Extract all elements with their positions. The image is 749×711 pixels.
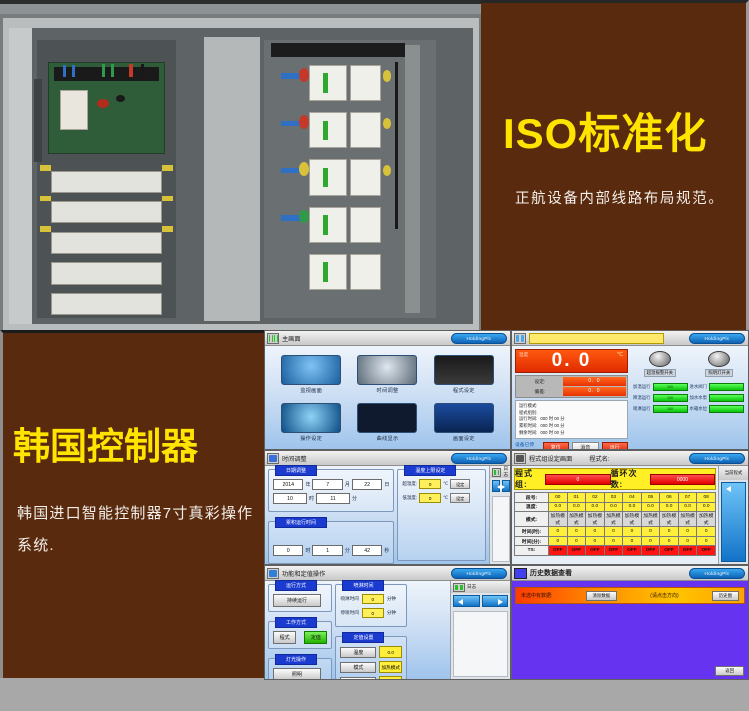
set-temp-value[interactable]: 0.0 (379, 646, 402, 658)
cell[interactable]: 0.0 (678, 502, 697, 512)
row-header: 时间(时): (515, 527, 549, 537)
cell[interactable]: 0.0 (697, 502, 716, 512)
light-group: 灯光操作 照明 (268, 658, 332, 680)
group-label: 喷淋时间 (342, 580, 384, 591)
info-value: 000 时 00 分 (540, 430, 564, 437)
iso-standard-panel: ISO标准化 正航设备内部线路布局规范。 (481, 0, 749, 330)
cell[interactable]: 0.0 (586, 502, 605, 512)
table-row: TS: OFF OFF OFF OFF OFF OFF OFF OFF OF (515, 546, 716, 556)
cell[interactable]: 0.0 (660, 502, 679, 512)
prev-arrow-button[interactable] (453, 595, 480, 607)
hmi-panel-main-menu[interactable]: 主画面 HoldingPlc 监视画面 时间调整 (264, 330, 511, 450)
alarm-high-value[interactable]: 0 (419, 479, 441, 489)
cell[interactable]: OFF (623, 546, 642, 556)
setvalue-group: 定值设置 温度 0.0 模式 加热模式 时间时 (335, 636, 407, 680)
nav-label: 日志 (503, 466, 510, 478)
deviation-value: 0. 0 (563, 387, 626, 396)
holding-plc-button[interactable]: HoldingPlc (451, 333, 507, 344)
runtime-hour-field[interactable]: 0 (273, 545, 303, 556)
page-root: ISO标准化 正航设备内部线路布局规范。 韩国控制器 韩国进口智能控制器7寸真彩… (0, 0, 749, 711)
knob-icon (708, 351, 730, 367)
holding-plc-button[interactable]: HoldingPlc (451, 453, 507, 464)
group-label: 累积运行时间 (275, 517, 327, 528)
runtime-minute-unit: 分 (345, 547, 350, 554)
day-unit: 日 (384, 481, 389, 488)
info-row: 剩余时间:000 时 00 分 (519, 430, 624, 437)
row-header: 模式: (515, 512, 549, 527)
cell[interactable]: 03 (604, 493, 623, 503)
temperature-value: 0. 0 (552, 350, 592, 372)
status-row: 加水水泵 (690, 393, 745, 402)
holding-plc-button[interactable]: HoldingPlc (689, 333, 745, 344)
year-field[interactable]: 2014 (273, 479, 303, 490)
date-group: 日期调整 2014 年 7 月 22 日 10 (268, 469, 394, 512)
titlebar: HoldingPlc (512, 331, 748, 346)
set-mode-button[interactable]: 模式 (340, 662, 376, 673)
info-key: 运行模式: (519, 403, 537, 410)
lighting-switch[interactable]: 照明灯开关 (705, 351, 733, 377)
nav-strip: 日志 (450, 581, 510, 679)
status-row: 水箱水位 (690, 404, 745, 413)
cell[interactable]: 07 (678, 493, 697, 503)
cell[interactable]: 04 (623, 493, 642, 503)
menu-item-operation[interactable]: 操作设定 (273, 399, 349, 448)
cell[interactable]: OFF (549, 546, 568, 556)
cell[interactable]: 加热模式 (586, 512, 605, 527)
info-row: 累积时间:000 时 00 分 (519, 423, 624, 430)
alarm-low-set-button[interactable]: 设定 (450, 493, 470, 503)
info-value: 000 时 00 分 (540, 423, 564, 430)
menu-label: 曲线显示 (377, 435, 399, 442)
cell[interactable]: 0.0 (641, 502, 660, 512)
work-mode-fixed-button[interactable]: 定值 (304, 631, 327, 644)
menu-item-time[interactable]: 时间调整 (349, 350, 425, 399)
alarm-high-label: 超温度: (402, 481, 417, 487)
cell[interactable]: 0 (660, 536, 679, 546)
cell[interactable]: OFF (678, 546, 697, 556)
cell[interactable]: 05 (641, 493, 660, 503)
alarm-group: 温度上限设定 超温度: 0 ℃ 设定 低温度: 0 (397, 469, 486, 561)
menu-label: 画面设定 (453, 435, 475, 442)
cell[interactable]: 02 (586, 493, 605, 503)
cell[interactable]: 0 (549, 527, 568, 537)
spray-on-value[interactable]: 0 (362, 594, 384, 604)
work-mode-group: 工作方式 程式 定值 (268, 621, 332, 649)
cell[interactable]: 加热模式 (660, 512, 679, 527)
program-group-value[interactable]: 0 (545, 474, 610, 485)
holding-plc-button[interactable]: HoldingPlc (451, 568, 507, 579)
table-row: 模式: 加热模式 加热模式 加热模式 加热模式 加热模式 加热模式 加热模式 加… (515, 512, 716, 527)
table-row: 段号: 00 01 02 03 04 05 06 07 08 (515, 493, 716, 503)
clear-data-button[interactable]: 清除数据 (586, 591, 618, 601)
deviation-label: 偏差: (517, 388, 563, 395)
menu-item-program[interactable]: 程式设定 (426, 350, 502, 399)
cell[interactable]: 08 (697, 493, 716, 503)
electrical-cabinet-photo (0, 0, 481, 330)
title-value-field[interactable] (529, 333, 664, 344)
titlebar: 时间调整 HoldingPlc (265, 451, 510, 466)
hmi-panel-time-adjust[interactable]: 时间调整 HoldingPlc 日期调整 2014 年 7 (264, 450, 511, 565)
info-row: 运行模式: (519, 403, 624, 410)
status-row: 进水阀门 (690, 382, 745, 391)
compass-clock-icon (357, 355, 417, 385)
back-button[interactable]: 返回 (715, 666, 744, 676)
status-led (709, 394, 744, 402)
alarm-low-value[interactable]: 0 (419, 493, 441, 503)
hour-field[interactable]: 10 (273, 493, 307, 504)
status-led: 100 (653, 405, 688, 413)
grid-icon (492, 468, 502, 477)
set-mode-value[interactable]: 加热模式 (379, 661, 402, 673)
hmi-panel-program-table[interactable]: 程式组设定画面 程式名: HoldingPlc 程式组: 0 循环次数: 000… (511, 450, 749, 565)
cell[interactable]: 加热模式 (549, 512, 568, 527)
program-group-label: 程式组: (515, 468, 545, 490)
iso-subtitle: 正航设备内部线路布局规范。 (515, 185, 733, 215)
status-label: 加水水泵 (690, 395, 708, 401)
cell[interactable]: 0.0 (549, 502, 568, 512)
work-mode-program-button[interactable]: 程式 (273, 631, 296, 644)
group-label: 温度上限设定 (404, 465, 456, 476)
minute-field[interactable]: 11 (316, 493, 350, 504)
cell[interactable]: 0 (697, 527, 716, 537)
day-field[interactable]: 22 (352, 479, 382, 490)
info-key: 剩余时间: (519, 430, 537, 437)
program-name-label: 程式名: (589, 454, 609, 463)
cell[interactable]: 0 (567, 527, 586, 537)
table-row: 温度: 0.0 0.0 0.0 0.0 0.0 0.0 0.0 0.0 0. (515, 502, 716, 512)
setpoint-label: 设定: (517, 378, 563, 385)
group-label: 定值设置 (342, 632, 384, 643)
menu-item-curve[interactable]: 曲线显示 (349, 399, 425, 448)
status-row: 降温运行 100 (633, 393, 688, 402)
cell[interactable]: 0 (586, 527, 605, 537)
group-label: 运行方式 (275, 580, 317, 591)
month-unit: 月 (345, 481, 350, 488)
info-value: 000 时 00 分 (540, 416, 564, 423)
reset-button[interactable]: 复位 (543, 442, 570, 450)
hour-unit: 时 (309, 495, 314, 502)
joystick-icon (281, 403, 341, 433)
cell[interactable]: 加热模式 (567, 512, 586, 527)
curve-chart-icon (357, 403, 417, 433)
cell[interactable]: 0 (586, 536, 605, 546)
row-header: 温度: (515, 502, 549, 512)
cell[interactable]: 0 (623, 536, 642, 546)
program-header-bar: 程式组: 0 循环次数: 0000 (514, 468, 716, 490)
titlebar: 主画面 HoldingPlc (265, 331, 510, 346)
menu-icon-grid: 监视画面 时间调整 程式设定 操作设定 (265, 346, 510, 449)
menu-item-monitor[interactable]: 监视画面 (273, 350, 349, 399)
overtemp-alarm-switch[interactable]: 超温报警开关 (644, 351, 676, 377)
status-row: 喷淋运行 100 (633, 404, 688, 413)
log-list[interactable] (492, 496, 511, 562)
run-info-box: 运行模式: 程式组别: 运行时间:000 时 00 分 累积时间:000 时 0… (515, 400, 628, 439)
cycle-count-label: 循环次数: (611, 468, 650, 490)
cell[interactable]: 0 (678, 536, 697, 546)
korean-controller-panel: 韩国控制器 韩国进口智能控制器7寸真彩操作系统. (0, 330, 264, 678)
status-led: 100 (653, 394, 688, 402)
history-left-label: 未选中有数据: (521, 592, 552, 599)
status-label: 降温运行 (633, 395, 651, 401)
table-row: 时间(分): 0 0 0 0 0 0 0 0 0 (515, 536, 716, 546)
lighting-button[interactable]: 照明 (273, 668, 321, 680)
prev-arrow-button[interactable] (492, 480, 500, 492)
program-table[interactable]: 段号: 00 01 02 03 04 05 06 07 08 (514, 492, 716, 556)
cell[interactable]: 0 (623, 527, 642, 537)
titlebar: 程式组设定画面 程式名: HoldingPlc (512, 451, 748, 466)
cell[interactable]: 加热模式 (697, 512, 716, 527)
spray-group: 喷淋时间 喷淋时间 0 分钟 停喷时间 0 分钟 (335, 584, 407, 627)
status-led (709, 405, 744, 413)
cell[interactable]: 0 (678, 527, 697, 537)
alarm-high-unit: ℃ (443, 481, 448, 487)
row-header: 时间(分): (515, 536, 549, 546)
current-program-button[interactable]: 当前程式 (719, 466, 748, 480)
alarm-low-unit: ℃ (443, 495, 448, 501)
year-unit: 年 (305, 481, 310, 488)
cell[interactable]: OFF (567, 546, 586, 556)
temperature-unit: ℃ (617, 352, 623, 358)
hmi-panel-history[interactable]: 历史数据查看 HoldingPlc 未选中有数据: 清除数据 (请点击方向) 历… (511, 565, 749, 680)
nav-strip: 日志 (489, 466, 511, 564)
titlebar: 历史数据查看 HoldingPlc (512, 566, 748, 581)
grid-icon (267, 333, 279, 344)
history-right-label: (请点击方向) (650, 592, 678, 599)
cell[interactable]: 06 (660, 493, 679, 503)
next-arrow-button[interactable] (502, 480, 510, 492)
menu-item-screen[interactable]: 画面设定 (426, 399, 502, 448)
spray-on-unit: 分钟 (387, 596, 396, 602)
panel-title: 程式组设定画面 (529, 454, 572, 463)
minute-unit: 分 (352, 495, 357, 502)
row-header: TS: (515, 546, 549, 556)
spray-on-label: 喷淋时间 (340, 596, 358, 602)
info-row: 运行时间:000 时 00 分 (519, 416, 624, 423)
temperature-label: 温度 (519, 352, 528, 358)
run-mode-group: 运行方式 持续运行 (268, 584, 332, 612)
status-label: 加温运行 (633, 384, 651, 390)
panel-title: 历史数据查看 (530, 568, 572, 578)
cell[interactable]: 01 (567, 493, 586, 503)
spray-off-value[interactable]: 0 (362, 608, 384, 618)
cell[interactable]: 加热模式 (604, 512, 623, 527)
cell[interactable]: OFF (697, 546, 716, 556)
knob-label: 照明灯开关 (705, 369, 733, 377)
knob-icon (649, 351, 671, 367)
history-chart-button[interactable]: 历史图 (712, 591, 739, 601)
group-label: 灯光操作 (275, 654, 317, 665)
hmi-screenshot-grid: 主画面 HoldingPlc 监视画面 时间调整 (264, 330, 749, 680)
cell[interactable]: OFF (660, 546, 679, 556)
holding-plc-button[interactable]: HoldingPlc (689, 453, 745, 464)
runtime-group: 累积运行时间 0 时 1 分 42 秒 (268, 521, 394, 564)
deviation-row: 偏差: 0. 0 (517, 387, 626, 396)
runtime-minute-field[interactable]: 1 (312, 545, 342, 556)
group-label: 日期调整 (275, 465, 317, 476)
menu-label: 时间调整 (377, 387, 399, 394)
table-row: 时间(时): 0 0 0 0 0 0 0 0 0 (515, 527, 716, 537)
panel-title: 主画面 (282, 334, 301, 343)
panel-title: 功能和定值操作 (282, 569, 325, 578)
spray-off-unit: 分钟 (387, 610, 396, 616)
cycle-count-value[interactable]: 0000 (650, 474, 715, 485)
setpoint-value: 0. 0 (563, 377, 626, 386)
iso-title: ISO标准化 (503, 113, 707, 155)
table-icon (514, 453, 526, 464)
cell[interactable]: 加热模式 (623, 512, 642, 527)
cell[interactable]: 0 (697, 536, 716, 546)
database-icon (514, 568, 527, 579)
cell[interactable]: 0 (641, 536, 660, 546)
mute-button[interactable]: 消音 (572, 442, 599, 450)
temperature-display: 温度 0. 0 ℃ (515, 349, 628, 373)
status-led (709, 383, 744, 391)
cell[interactable]: OFF (604, 546, 623, 556)
row-header: 段号: (515, 493, 549, 503)
status-label: 喷淋运行 (633, 406, 651, 412)
program-list-icon (434, 355, 494, 385)
set-hour-value[interactable]: 0 (379, 676, 402, 680)
status-label: 进水阀门 (690, 384, 708, 390)
set-hour-button[interactable]: 时间时 (340, 677, 376, 681)
cell[interactable]: 0 (604, 527, 623, 537)
cell[interactable]: OFF (641, 546, 660, 556)
alarm-low-label: 低温度: (402, 495, 417, 501)
cell[interactable]: 0 (604, 536, 623, 546)
nav-label: 日志 (467, 584, 476, 590)
menu-label: 监视画面 (300, 387, 322, 394)
clock-icon (267, 453, 279, 464)
alarm-high-set-button[interactable]: 设定 (450, 479, 470, 489)
status-text: 设备已停止... (515, 441, 540, 450)
titlebar: 功能和定值操作 HoldingPlc (265, 566, 510, 581)
group-label: 工作方式 (275, 617, 317, 628)
cell[interactable]: 0 (567, 536, 586, 546)
runtime-hour-unit: 时 (305, 547, 310, 554)
gauge-cluster-icon (281, 355, 341, 385)
set-temp-button[interactable]: 温度 (340, 647, 376, 658)
cell[interactable]: 0 (641, 527, 660, 537)
history-action-bar: 未选中有数据: 清除数据 (请点击方向) 历史图 (515, 587, 745, 604)
korean-controller-subtitle: 韩国进口智能控制器7寸真彩操作系统. (17, 498, 263, 561)
monitor-icon (514, 333, 526, 344)
status-led: 100 (653, 383, 688, 391)
run-button[interactable]: 运行 (602, 442, 629, 450)
menu-label: 程式设定 (453, 387, 475, 394)
cell[interactable]: 00 (549, 493, 568, 503)
month-field[interactable]: 7 (312, 479, 342, 490)
log-list[interactable] (453, 611, 508, 677)
setpoint-box: 设定: 0. 0 偏差: 0. 0 (515, 375, 628, 398)
spray-off-label: 停喷时间 (340, 610, 358, 616)
runtime-second-field[interactable]: 42 (352, 545, 382, 556)
cell[interactable]: 0.0 (604, 502, 623, 512)
cell[interactable]: 加热模式 (678, 512, 697, 527)
wrench-icon (267, 568, 279, 579)
next-arrow-button[interactable] (482, 595, 509, 607)
status-row: 加温运行 100 (633, 382, 688, 391)
info-key: 累积时间: (519, 423, 537, 430)
continuous-run-button[interactable]: 持续运行 (273, 594, 321, 607)
cell[interactable]: OFF (586, 546, 605, 556)
cell[interactable]: 0.0 (623, 502, 642, 512)
hmi-panel-function-settings[interactable]: 功能和定值操作 HoldingPlc 运行方式 持续运行 工作方式 (264, 565, 511, 680)
setpoint-row: 设定: 0. 0 (517, 377, 626, 386)
hmi-panel-monitor[interactable]: HoldingPlc 温度 0. 0 ℃ 设定: (511, 330, 749, 450)
screen-settings-icon (434, 403, 494, 433)
info-key: 运行时间: (519, 416, 537, 423)
panel-title: 时间调整 (282, 454, 307, 463)
knob-label: 超温报警开关 (644, 369, 676, 377)
grid-icon (453, 583, 465, 592)
cell[interactable]: 0 (660, 527, 679, 537)
menu-label: 操作设定 (300, 435, 322, 442)
runtime-second-unit: 秒 (384, 547, 389, 554)
holding-plc-button[interactable]: HoldingPlc (689, 568, 745, 579)
korean-controller-title: 韩国控制器 (13, 428, 198, 465)
cell[interactable]: 0.0 (567, 502, 586, 512)
cell[interactable]: 加热模式 (641, 512, 660, 527)
cell[interactable]: 0 (549, 536, 568, 546)
status-label: 水箱水位 (690, 406, 708, 412)
prev-arrow-button[interactable] (721, 482, 746, 562)
